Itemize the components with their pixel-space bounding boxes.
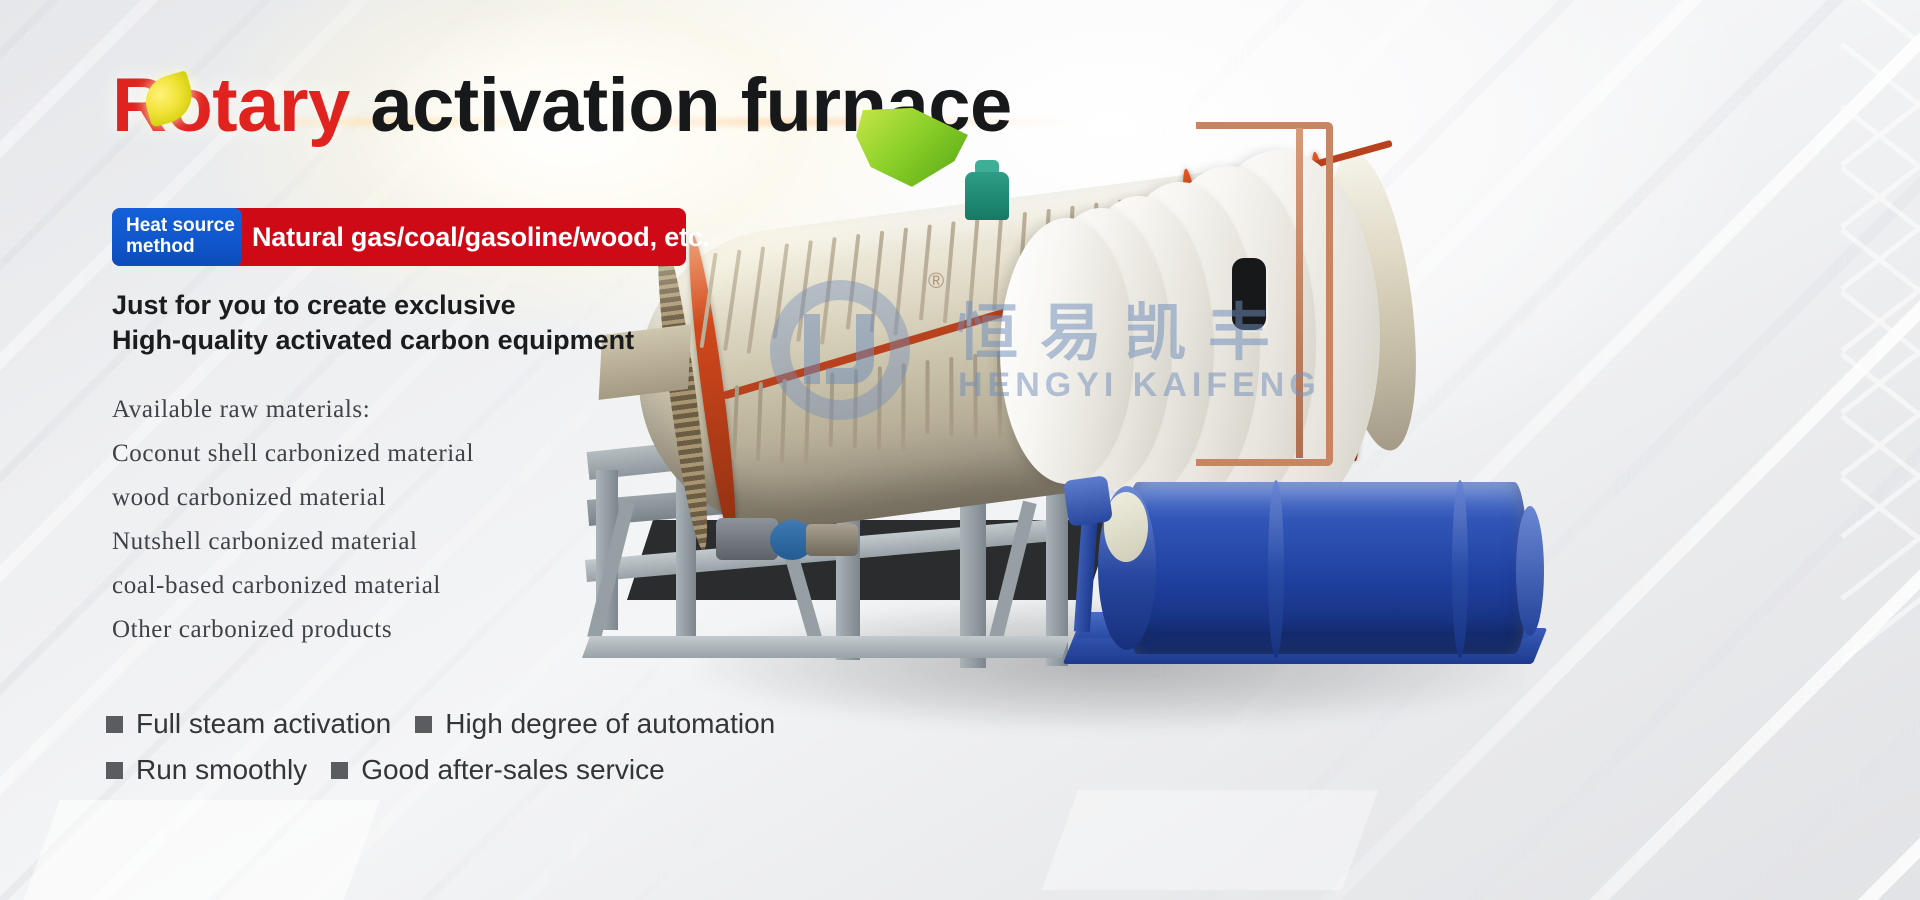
copper-pipe-stem: [1296, 128, 1303, 458]
heat-source-value: Natural gas/coal/gasoline/wood, etc.: [252, 208, 710, 266]
feature-label: Run smoothly: [136, 754, 307, 786]
drive-pinion: [806, 524, 858, 556]
list-item: wood carbonized material: [112, 476, 474, 520]
heat-source-label-line1: Heat source: [126, 216, 242, 237]
feature-label: Full steam activation: [136, 708, 391, 740]
cooler-flange-plate: [1104, 492, 1148, 562]
feature-item: High degree of automation: [415, 708, 775, 740]
bullet-square-icon: [415, 716, 432, 733]
feature-label: High degree of automation: [445, 708, 775, 740]
subheading-line1: Just for you to create exclusive: [112, 288, 634, 323]
bullet-square-icon: [331, 762, 348, 779]
product-banner: ® 恒易凯丰 HENGYI KAIFENG Rotary activation …: [0, 0, 1920, 900]
housing-disc-6: [1000, 218, 1134, 484]
list-item: Coconut shell carbonized material: [112, 432, 474, 476]
feature-item: Full steam activation: [106, 708, 391, 740]
frame-base-rail: [582, 636, 1070, 658]
raw-materials-list: Available raw materials: Coconut shell c…: [112, 388, 474, 652]
drive-motor: [716, 518, 778, 560]
heat-source-badge: Heat source method Natural gas/coal/gaso…: [112, 208, 242, 266]
subheading-line2: High-quality activated carbon equipment: [112, 323, 634, 358]
copper-pipe-frame: [1196, 122, 1333, 466]
kiln-lifting-fin: [901, 363, 906, 452]
heat-source-label-line2: method: [126, 237, 242, 258]
list-item: coal-based carbonized material: [112, 564, 474, 608]
bullet-square-icon: [106, 716, 123, 733]
cooler-band-2: [1452, 480, 1468, 658]
list-item: Nutshell carbonized material: [112, 520, 474, 564]
feature-label: Good after-sales service: [361, 754, 664, 786]
bullet-square-icon: [106, 762, 123, 779]
cooler-band-1: [1268, 480, 1284, 658]
feature-item: Run smoothly: [106, 754, 307, 786]
list-item: Other carbonized products: [112, 608, 474, 652]
subheading: Just for you to create exclusive High-qu…: [112, 288, 634, 357]
kiln-lifting-fin: [973, 354, 978, 438]
heat-source-label: Heat source method: [112, 208, 242, 266]
feature-item: Good after-sales service: [331, 754, 664, 786]
cooler-tail-flange: [1516, 506, 1544, 636]
kiln-lifting-fin: [925, 360, 929, 434]
kiln-lifting-fin: [949, 357, 953, 436]
feature-highlights: Full steam activation High degree of aut…: [106, 708, 799, 800]
raw-materials-title: Available raw materials:: [112, 388, 474, 432]
feature-row-2: Run smoothly Good after-sales service: [106, 754, 799, 786]
feature-row-1: Full steam activation High degree of aut…: [106, 708, 799, 740]
green-gearbox: [965, 172, 1009, 220]
cooler-inlet-pipe: [1063, 475, 1113, 527]
